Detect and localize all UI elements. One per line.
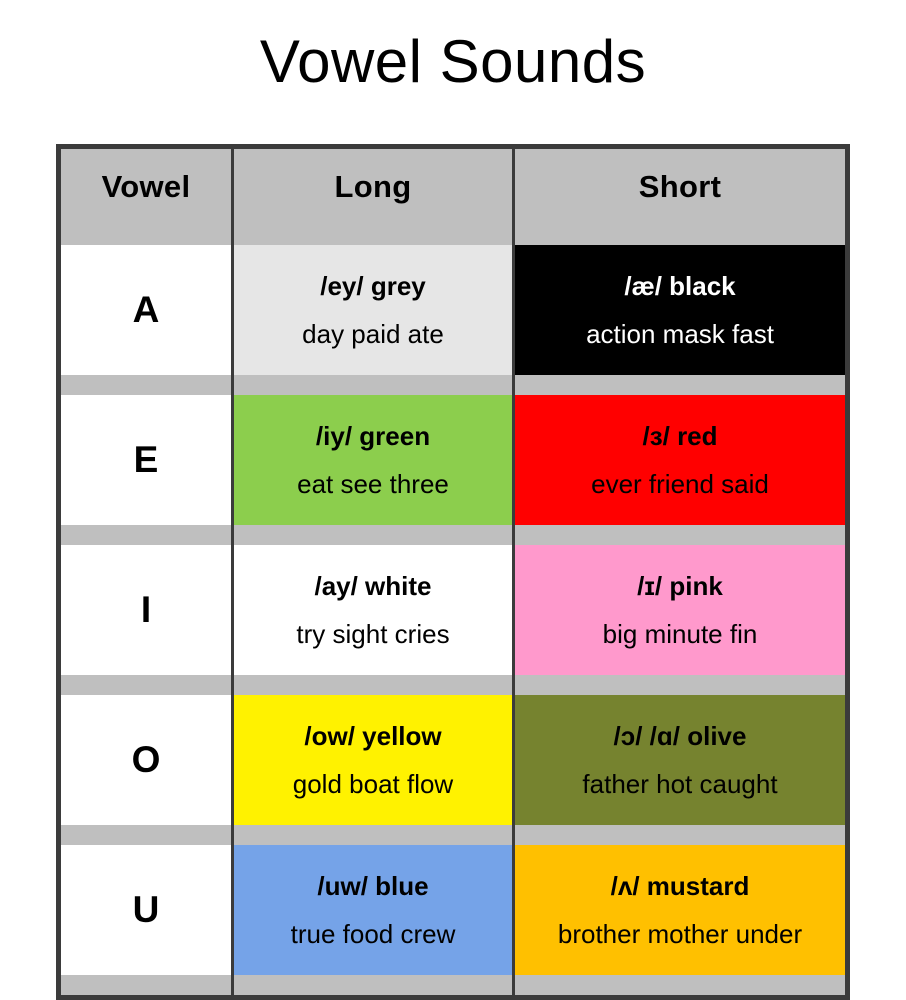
- example-words: brother mother under: [558, 918, 802, 950]
- sound-label: /æ/ black: [624, 270, 735, 302]
- cell-a-long: /ey/ greyday paid ate: [234, 245, 515, 375]
- table-gap-cell: [515, 825, 845, 845]
- sound-label: /iy/ green: [316, 420, 430, 452]
- example-words: try sight cries: [296, 618, 449, 650]
- table-gap-cell: [61, 225, 234, 245]
- page-title: Vowel Sounds: [0, 24, 906, 100]
- table-gap-row: [61, 675, 845, 695]
- table-gap-cell: [61, 525, 234, 545]
- vowel-letter: I: [141, 589, 151, 631]
- sound-label: /ɜ/ red: [642, 420, 717, 452]
- table-row: A/ey/ greyday paid ate/æ/ blackaction ma…: [61, 245, 845, 375]
- table-gap-cell: [61, 375, 234, 395]
- table-gap-cell: [234, 375, 515, 395]
- cell-vowel-a: A: [61, 245, 234, 375]
- cell-o-short: /ɔ/ /ɑ/ olivefather hot caught: [515, 695, 845, 825]
- cell-u-short: /ʌ/ mustardbrother mother under: [515, 845, 845, 975]
- column-header-long: Long: [234, 149, 515, 225]
- column-header-short: Short: [515, 149, 845, 225]
- table-gap-cell: [234, 675, 515, 695]
- cell-e-long: /iy/ greeneat see three: [234, 395, 515, 525]
- table-gap-cell: [61, 675, 234, 695]
- table-gap-cell: [234, 225, 515, 245]
- sound-label: /ow/ yellow: [304, 720, 441, 752]
- table-gap-row: [61, 375, 845, 395]
- example-words: ever friend said: [591, 468, 769, 500]
- vowel-letter: O: [132, 739, 161, 781]
- column-header-vowel: Vowel: [61, 149, 234, 225]
- table-gap-row: [61, 975, 845, 995]
- cell-vowel-i: I: [61, 545, 234, 675]
- table-gap-cell: [234, 975, 515, 995]
- table-gap-row: [61, 525, 845, 545]
- sound-label: /ey/ grey: [320, 270, 426, 302]
- table-gap-cell: [234, 525, 515, 545]
- table-header-row: Vowel Long Short: [61, 149, 845, 225]
- example-words: eat see three: [297, 468, 449, 500]
- sound-label: /ɔ/ /ɑ/ olive: [614, 720, 747, 752]
- table-gap-cell: [234, 825, 515, 845]
- table-gap-cell: [61, 975, 234, 995]
- example-words: father hot caught: [582, 768, 777, 800]
- page-root: Vowel Sounds Vowel Long Short A/ey/ grey…: [0, 0, 906, 935]
- vowel-letter: A: [133, 289, 160, 331]
- cell-vowel-e: E: [61, 395, 234, 525]
- vowel-sounds-table: Vowel Long Short A/ey/ greyday paid ate/…: [56, 144, 850, 1000]
- cell-e-short: /ɜ/ redever friend said: [515, 395, 845, 525]
- cell-u-long: /uw/ bluetrue food crew: [234, 845, 515, 975]
- cell-o-long: /ow/ yellowgold boat flow: [234, 695, 515, 825]
- table-row: U/uw/ bluetrue food crew/ʌ/ mustardbroth…: [61, 845, 845, 975]
- table-gap-cell: [515, 375, 845, 395]
- example-words: day paid ate: [302, 318, 444, 350]
- sound-label: /ay/ white: [314, 570, 431, 602]
- cell-i-short: /ɪ/ pinkbig minute fin: [515, 545, 845, 675]
- table-gap-cell: [515, 975, 845, 995]
- cell-vowel-u: U: [61, 845, 234, 975]
- cell-i-long: /ay/ whitetry sight cries: [234, 545, 515, 675]
- sound-label: /ʌ/ mustard: [611, 870, 750, 902]
- cell-a-short: /æ/ blackaction mask fast: [515, 245, 845, 375]
- table-row: I/ay/ whitetry sight cries/ɪ/ pinkbig mi…: [61, 545, 845, 675]
- vowel-letter: U: [133, 889, 160, 931]
- table-gap-row: [61, 225, 845, 245]
- example-words: true food crew: [291, 918, 456, 950]
- table-row: E/iy/ greeneat see three/ɜ/ redever frie…: [61, 395, 845, 525]
- sound-label: /ɪ/ pink: [637, 570, 723, 602]
- example-words: gold boat flow: [293, 768, 453, 800]
- table-gap-cell: [515, 525, 845, 545]
- table-gap-cell: [515, 225, 845, 245]
- table-gap-cell: [61, 825, 234, 845]
- example-words: big minute fin: [603, 618, 758, 650]
- table-body: A/ey/ greyday paid ate/æ/ blackaction ma…: [61, 225, 845, 995]
- table-row: O/ow/ yellowgold boat flow/ɔ/ /ɑ/ olivef…: [61, 695, 845, 825]
- vowel-letter: E: [134, 439, 159, 481]
- cell-vowel-o: O: [61, 695, 234, 825]
- table-gap-cell: [515, 675, 845, 695]
- sound-label: /uw/ blue: [317, 870, 428, 902]
- table-gap-row: [61, 825, 845, 845]
- example-words: action mask fast: [586, 318, 774, 350]
